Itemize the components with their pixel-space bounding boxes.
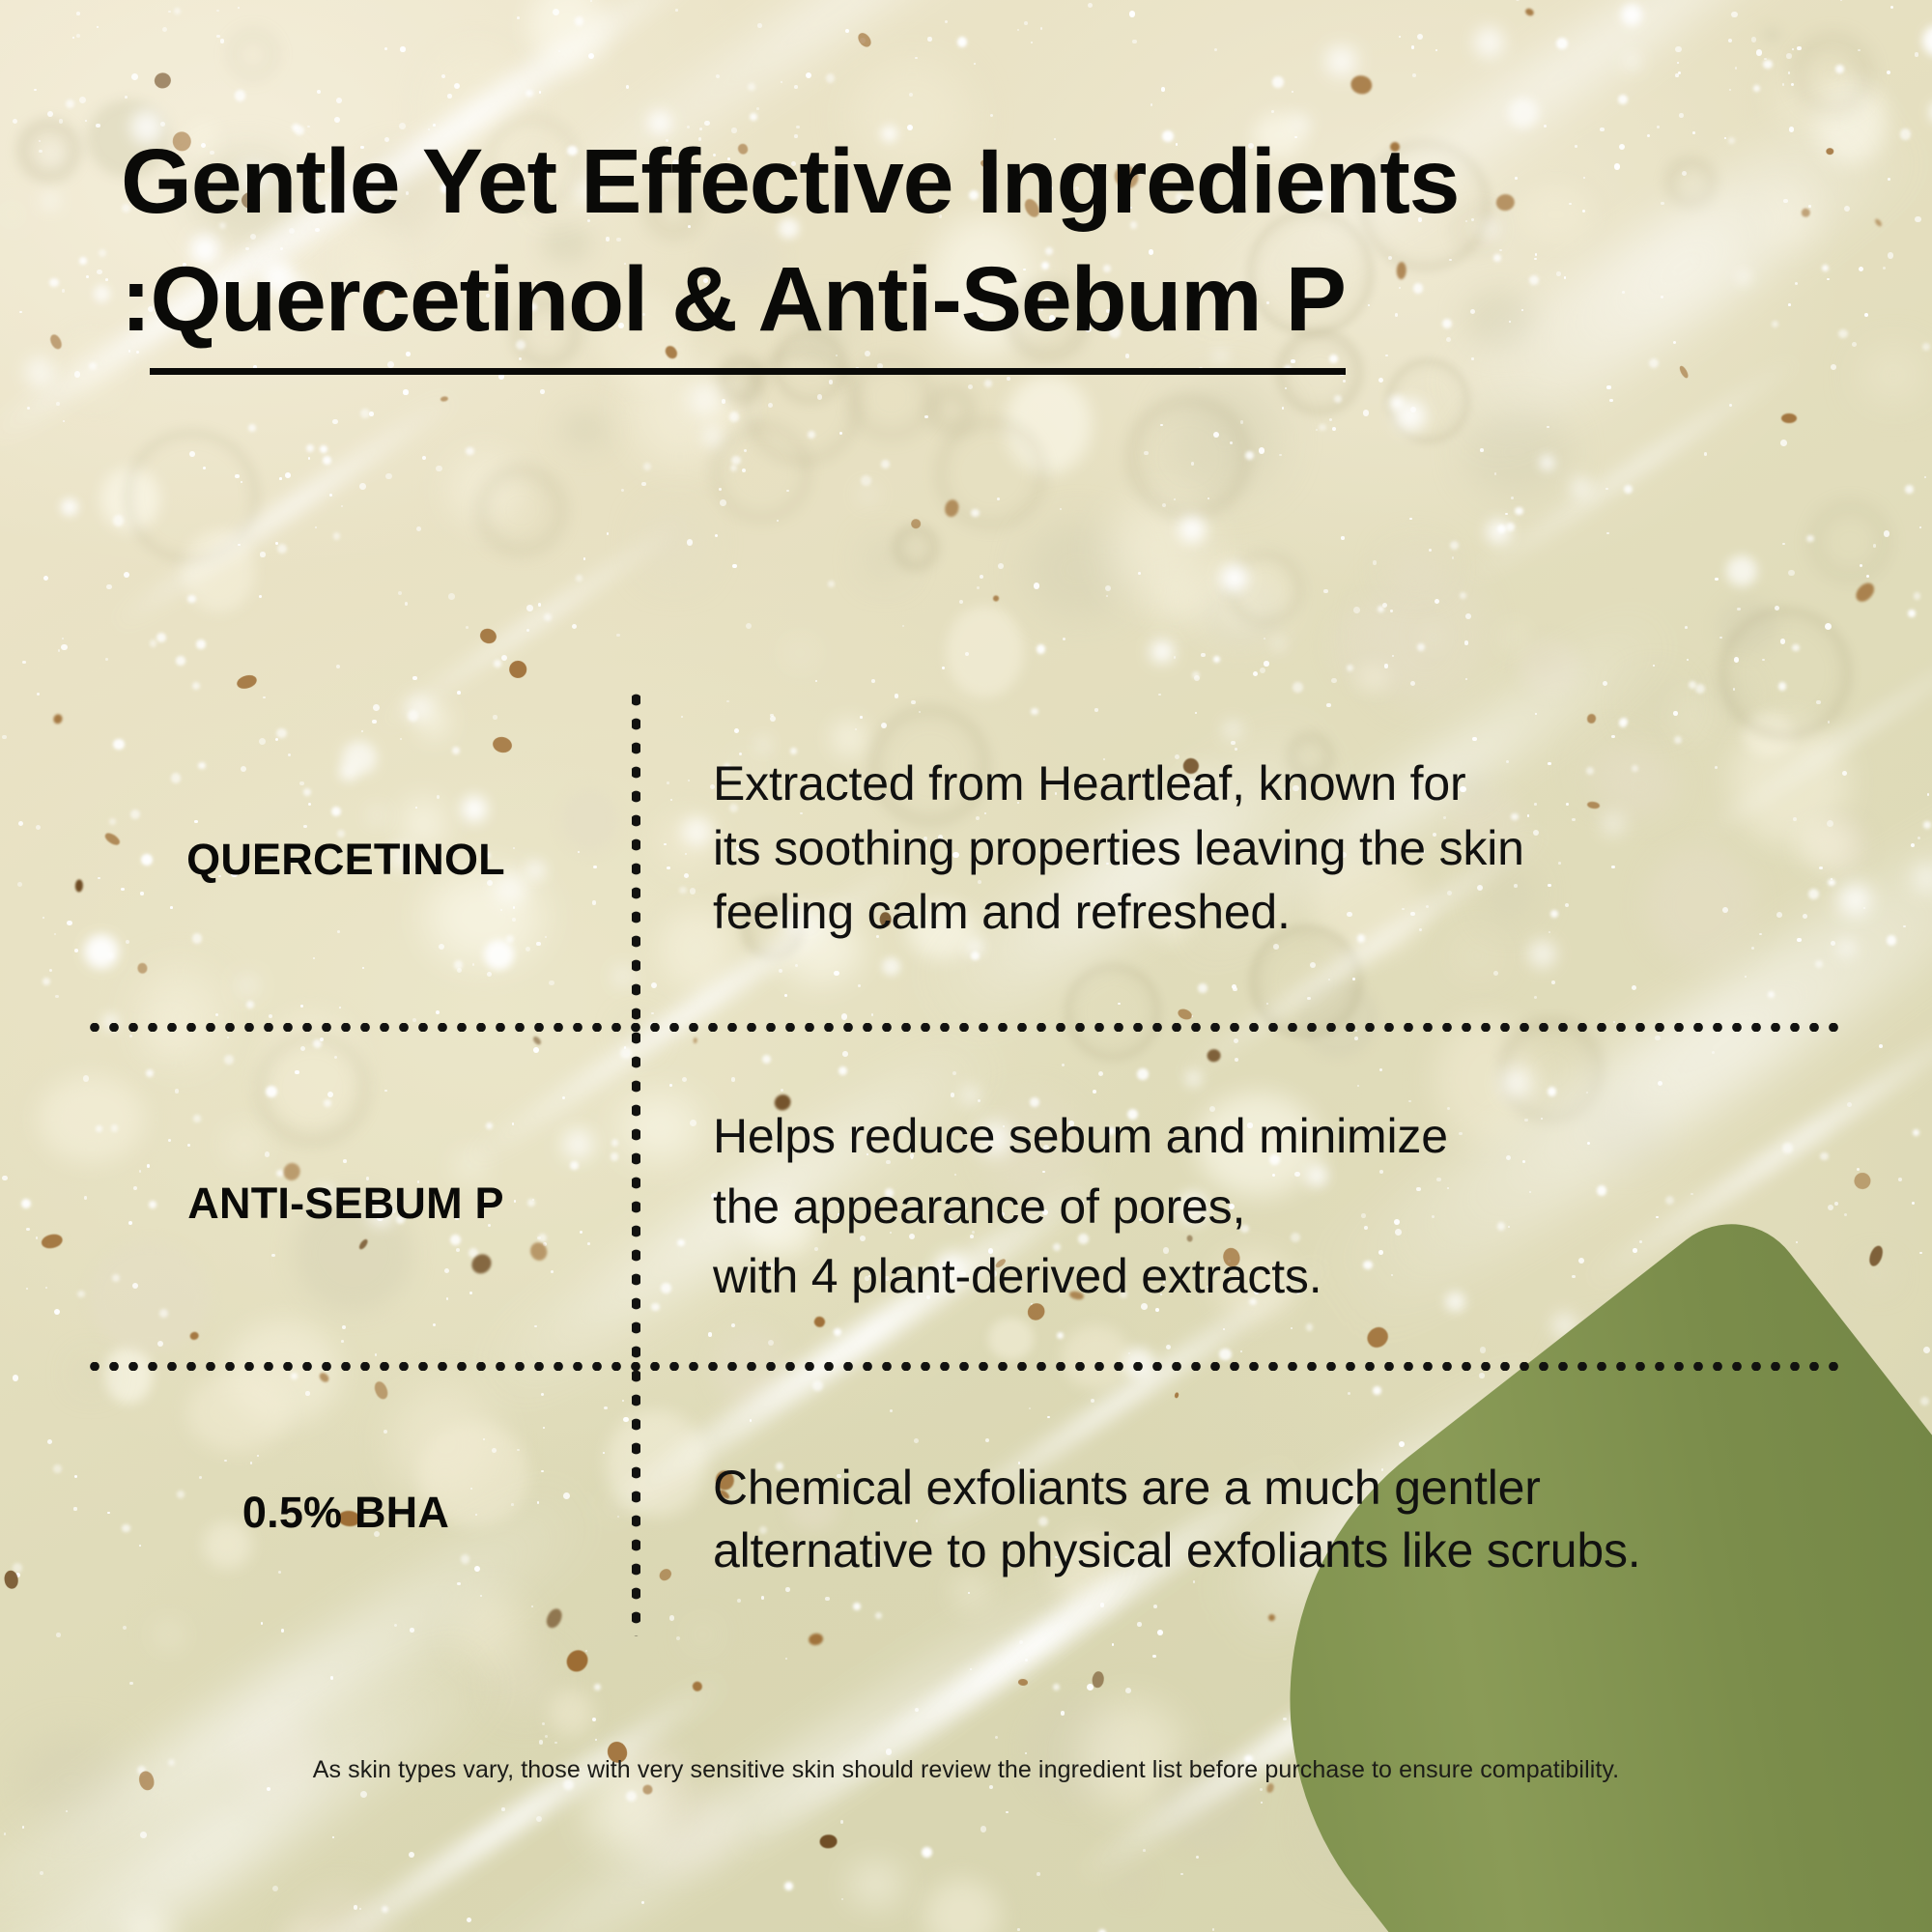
desc-line: the appearance of pores,	[713, 1172, 1853, 1242]
title-line-2: : Quercetinol & Anti-Sebum P	[121, 241, 1346, 376]
title-line-1: Gentle Yet Effective Ingredients	[121, 124, 1821, 241]
ingredient-description-anti-sebum-p: Helps reduce sebum and minimize the appe…	[713, 1101, 1853, 1312]
ingredient-label-quercetinol: QUERCETINOL	[85, 835, 607, 885]
page-title: Gentle Yet Effective Ingredients : Querc…	[121, 124, 1821, 375]
table-horizontal-divider-2	[85, 1362, 1845, 1371]
desc-line: alternative to physical exfoliants like …	[713, 1520, 1853, 1582]
title-colon: :	[121, 241, 150, 359]
disclaimer-text: As skin types vary, those with very sens…	[0, 1756, 1932, 1784]
ingredient-description-bha: Chemical exfoliants are a much gentler a…	[713, 1457, 1853, 1582]
table-horizontal-divider-1	[85, 1023, 1845, 1032]
desc-line: its soothing properties leaving the skin	[713, 816, 1853, 881]
desc-line: Extracted from Heartleaf, known for	[713, 752, 1853, 816]
table-vertical-divider	[632, 688, 640, 1636]
desc-line: Chemical exfoliants are a much gentler	[713, 1457, 1853, 1520]
ingredient-label-bha: 0.5% BHA	[85, 1488, 607, 1538]
desc-line: Helps reduce sebum and minimize	[713, 1101, 1853, 1172]
ingredient-description-quercetinol: Extracted from Heartleaf, known for its …	[713, 752, 1853, 945]
ingredient-label-anti-sebum-p: ANTI-SEBUM P	[85, 1179, 607, 1229]
desc-line: with 4 plant-derived extracts.	[713, 1241, 1853, 1312]
desc-line: feeling calm and refreshed.	[713, 880, 1853, 945]
title-underlined-text: Quercetinol & Anti-Sebum P	[150, 241, 1345, 376]
